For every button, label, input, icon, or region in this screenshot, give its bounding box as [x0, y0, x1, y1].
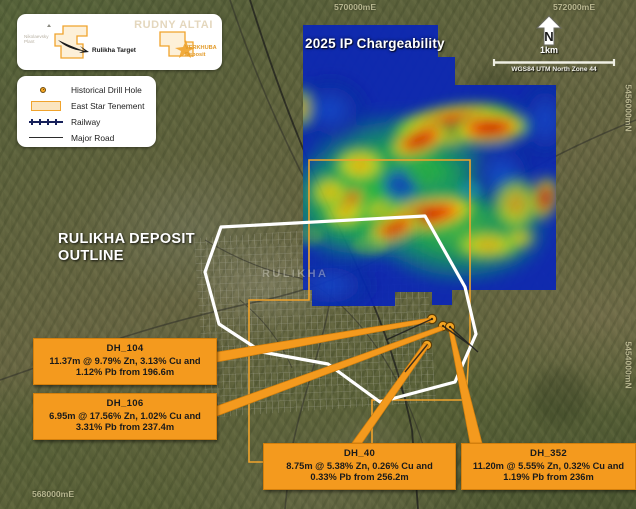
north-arrow-icon: N [534, 15, 564, 47]
callout-title: DH_40 [270, 448, 449, 459]
legend-item-road: Major Road [27, 130, 114, 145]
coord-label-bottom-left: 568000mE [32, 489, 74, 499]
ip-chargeability-title: 2025 IP Chargeability [305, 36, 445, 51]
inset-target-label: Rulikha Target [92, 47, 136, 54]
callout-body: 11.20m @ 5.55% Zn, 0.32% Cu and 1.19% Pb… [468, 461, 629, 484]
callout-body: 8.75m @ 5.38% Zn, 0.26% Cu and 0.33% Pb … [270, 461, 449, 484]
drill-hole-callout-dh40: DH_40 8.75m @ 5.38% Zn, 0.26% Cu and 0.3… [263, 443, 456, 490]
callout-title: DH_352 [468, 448, 629, 459]
village-label-rulikha: RULIKHA [262, 268, 328, 280]
historical-drill-hole-icon [27, 84, 63, 96]
deposit-outline-label: RULIKHA DEPOSIT OUTLINE [58, 231, 228, 266]
inset-verkhuba-label: VERKHUBA Deposit [185, 45, 221, 58]
major-road-line-icon [27, 132, 63, 144]
drill-hole-callout-dh104: DH_104 11.37m @ 9.79% Zn, 3.13% Cu and 1… [33, 338, 217, 385]
callout-body: 6.95m @ 17.56% Zn, 1.02% Cu and 3.31% Pb… [40, 411, 210, 434]
ip-chargeability-map: 570000mE 572000mE 5456000mN 5454000mN 56… [0, 0, 636, 509]
legend-item-railway: Railway [27, 114, 100, 129]
callout-body: 11.37m @ 9.79% Zn, 3.13% Cu and 1.12% Pb… [40, 356, 210, 379]
legend-label: East Star Tenement [71, 101, 144, 111]
callout-title: DH_104 [40, 343, 210, 354]
deposit-outline-label-line2: OUTLINE [58, 248, 228, 265]
svg-text:N: N [544, 29, 553, 44]
locality-inset-panel: RUDNY ALTAI Nikolaevsky Plant Rulikha Ta… [17, 14, 222, 70]
tenement-polygon-icon [27, 100, 63, 112]
legend-label: Railway [71, 117, 100, 127]
railway-line-icon [27, 116, 63, 128]
scale-bar-label: 1km [534, 45, 564, 55]
coord-label-top-left: 570000mE [334, 2, 376, 12]
drill-hole-callout-dh106: DH_106 6.95m @ 17.56% Zn, 1.02% Cu and 3… [33, 393, 217, 440]
map-legend-panel: Historical Drill Hole East Star Tenement… [17, 76, 156, 147]
callout-title: DH_106 [40, 398, 210, 409]
inset-plant-label: Nikolaevsky Plant [24, 34, 56, 45]
drill-hole-callout-dh352: DH_352 11.20m @ 5.55% Zn, 0.32% Cu and 1… [461, 443, 636, 490]
datum-label: WGS84 UTM North Zone 44 [492, 66, 616, 73]
legend-label: Historical Drill Hole [71, 85, 142, 95]
legend-label: Major Road [71, 133, 114, 143]
legend-item-tenement: East Star Tenement [27, 98, 144, 113]
deposit-outline-label-line1: RULIKHA DEPOSIT [58, 231, 228, 248]
coord-label-right-upper: 5456000mN [623, 84, 633, 131]
legend-item-drill-hole: Historical Drill Hole [27, 82, 142, 97]
coord-label-top-right: 572000mE [553, 2, 595, 12]
coord-label-right-lower: 5454000mN [623, 341, 633, 388]
